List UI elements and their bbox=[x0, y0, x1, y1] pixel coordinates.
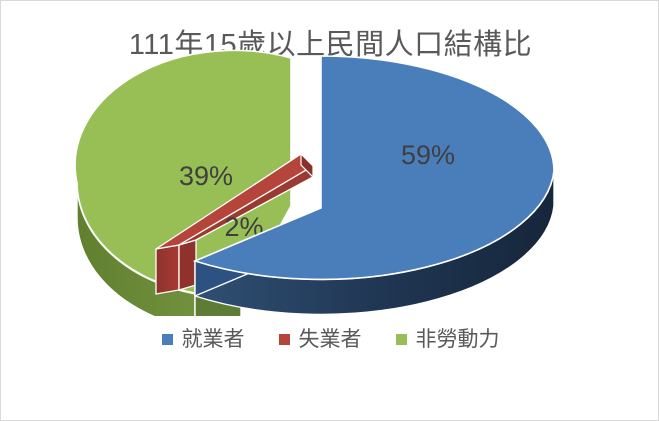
red-slice-left-wall bbox=[156, 245, 179, 294]
legend-label-employed: 就業者 bbox=[182, 329, 245, 350]
legend-label-unemployed: 失業者 bbox=[299, 329, 362, 350]
legend-label-non-labor-force: 非勞動力 bbox=[416, 329, 500, 350]
slice-label-employed: 59% bbox=[401, 140, 455, 170]
pie-chart-plot-area: 39% 2% bbox=[1, 46, 659, 316]
legend-item-non-labor-force[interactable]: 非勞動力 bbox=[396, 329, 500, 350]
legend-swatch-employed bbox=[162, 334, 173, 345]
legend-swatch-non-labor-force bbox=[396, 334, 407, 345]
legend-item-employed[interactable]: 就業者 bbox=[162, 329, 245, 350]
legend-swatch-unemployed bbox=[279, 334, 290, 345]
legend-item-unemployed[interactable]: 失業者 bbox=[279, 329, 362, 350]
slice-label-non-labor-force: 39% bbox=[179, 161, 233, 191]
pie-svg: 39% 2% bbox=[1, 46, 659, 316]
chart-frame: 111年15歲以上民間人口結構比 bbox=[0, 0, 659, 421]
red-slice-front-wall bbox=[179, 240, 196, 290]
chart-legend: 就業者 失業者 非勞動力 bbox=[1, 329, 659, 350]
